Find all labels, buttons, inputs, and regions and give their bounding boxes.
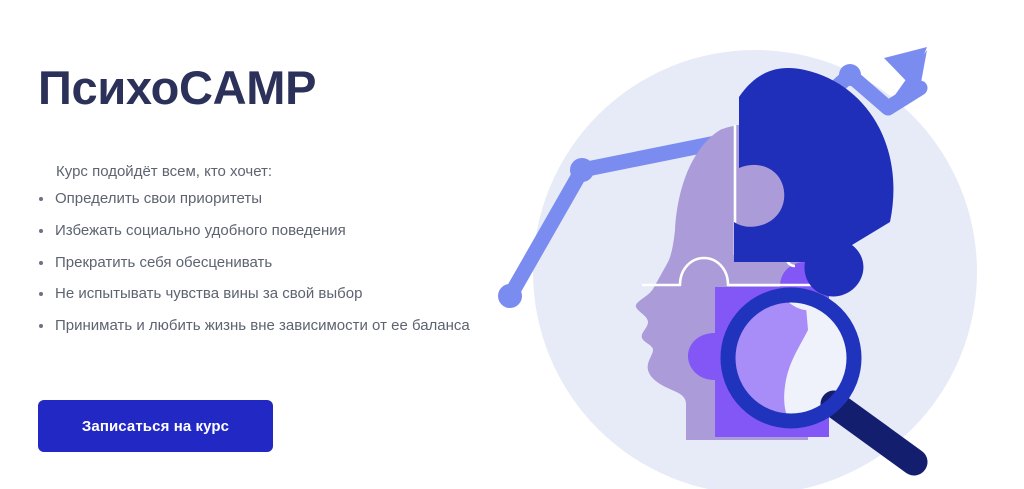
intro-text: Курс подойдёт всем, кто хочет: <box>56 161 272 182</box>
bullet-dot-icon <box>39 229 43 233</box>
hero-content-column: ПсихоCAMP Курс подойдёт всем, кто хочет:… <box>0 0 500 489</box>
list-item-label: Избежать социально удобного поведения <box>55 222 346 239</box>
list-item-label: Принимать и любить жизнь вне зависимости… <box>55 317 470 334</box>
bullet-dot-icon <box>39 197 43 201</box>
page-title: ПсихоCAMP <box>38 62 316 115</box>
benefits-list: Определить свои приоритеты Избежать соци… <box>38 190 470 349</box>
bullet-dot-icon <box>39 261 43 265</box>
head-puzzle-growth-illustration <box>490 0 1024 489</box>
list-item-label: Определить свои приоритеты <box>55 190 262 207</box>
hero-section: ПсихоCAMP Курс подойдёт всем, кто хочет:… <box>0 0 1024 489</box>
enroll-course-button[interactable]: Записаться на курс <box>38 400 273 452</box>
bullet-dot-icon <box>39 324 43 328</box>
bullet-dot-icon <box>39 292 43 296</box>
list-item: Избежать социально удобного поведения <box>38 222 470 241</box>
list-item: Прекратить себя обесценивать <box>38 254 470 273</box>
list-item: Определить свои приоритеты <box>38 190 470 209</box>
list-item: Принимать и любить жизнь вне зависимости… <box>38 317 470 336</box>
list-item-label: Прекратить себя обесценивать <box>55 254 272 271</box>
list-item: Не испытывать чувства вины за свой выбор <box>38 285 470 304</box>
list-item-label: Не испытывать чувства вины за свой выбор <box>55 285 362 302</box>
